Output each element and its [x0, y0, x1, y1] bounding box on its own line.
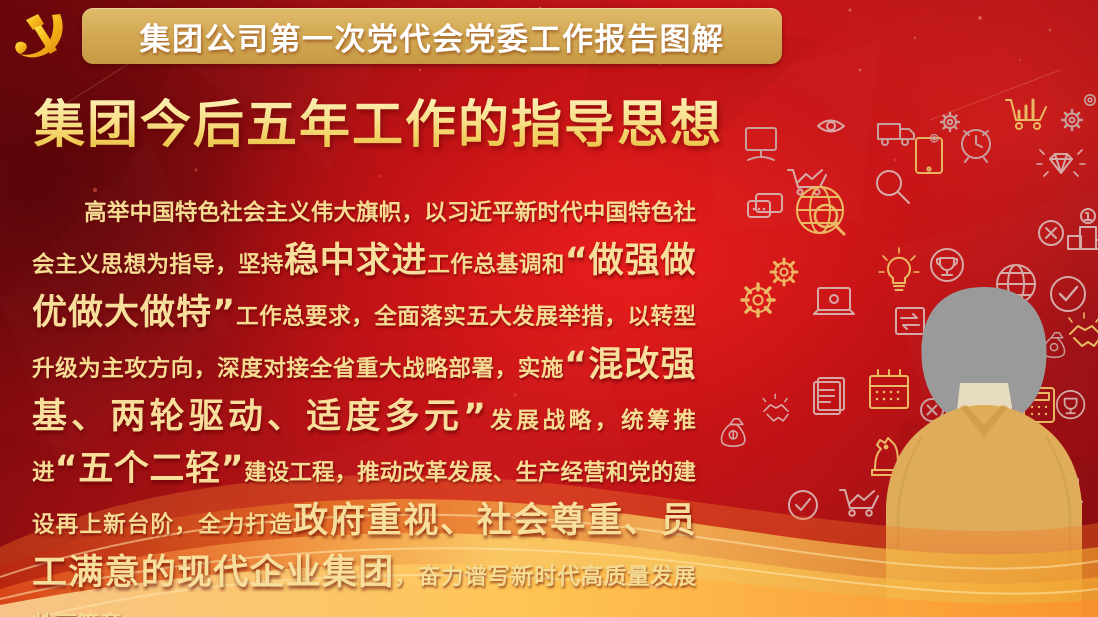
- hammer-and-sickle-icon: [8, 6, 76, 68]
- chat-bubble-icon: [748, 194, 782, 217]
- gear-icon: [742, 284, 774, 316]
- desktop-icon: [746, 128, 776, 160]
- lightbulb-icon: [879, 248, 919, 290]
- report-title-banner: 集团公司第一次党代会党委工作报告图解: [82, 8, 782, 64]
- trophy-badge-icon: [931, 249, 963, 281]
- diamond-icon: [1037, 150, 1085, 176]
- body-text-block: 高举中国特色社会主义伟大旗帜，以习近平新时代中国特色社会主义思想为指导，坚持稳中…: [32, 190, 696, 617]
- gear-icon: [771, 259, 797, 285]
- slide-root: 集团公司第一次党代会党委工作报告图解 集团今后五年工作的指导思想 高举中国特色社…: [0, 0, 1098, 617]
- emphasis-phrase: “五个二轻”: [55, 449, 244, 489]
- gear-icon: [941, 113, 959, 131]
- guiding-ideology-paragraph: 高举中国特色社会主义伟大旗帜，以习近平新时代中国特色社会主义思想为指导，坚持稳中…: [32, 190, 696, 617]
- gear-icon: [1085, 95, 1095, 105]
- body-text-run: 工作总基调和: [427, 252, 564, 278]
- cross-circle-icon: [1039, 221, 1063, 245]
- gear-icon: [1062, 110, 1082, 130]
- documents-icon: [814, 378, 844, 414]
- podium-icon: [1068, 209, 1098, 249]
- eye-icon: [818, 121, 844, 132]
- laptop-icon: [814, 288, 854, 314]
- shopping-cart-chart-icon: [1006, 100, 1046, 129]
- report-title-text: 集团公司第一次党代会党委工作报告图解: [140, 14, 725, 59]
- globe-search-icon: [797, 187, 844, 234]
- magnifier-icon: [877, 171, 909, 203]
- tablet-icon: [916, 138, 942, 173]
- handshake-icon: [763, 394, 788, 420]
- alarm-clock-icon: [962, 130, 990, 162]
- truck-icon: [878, 124, 914, 145]
- page-title: 集团今后五年工作的指导思想: [34, 98, 723, 154]
- emphasis-phrase: 稳中求进: [284, 241, 428, 281]
- header-bar: 集团公司第一次党代会党委工作报告图解: [0, 0, 1098, 76]
